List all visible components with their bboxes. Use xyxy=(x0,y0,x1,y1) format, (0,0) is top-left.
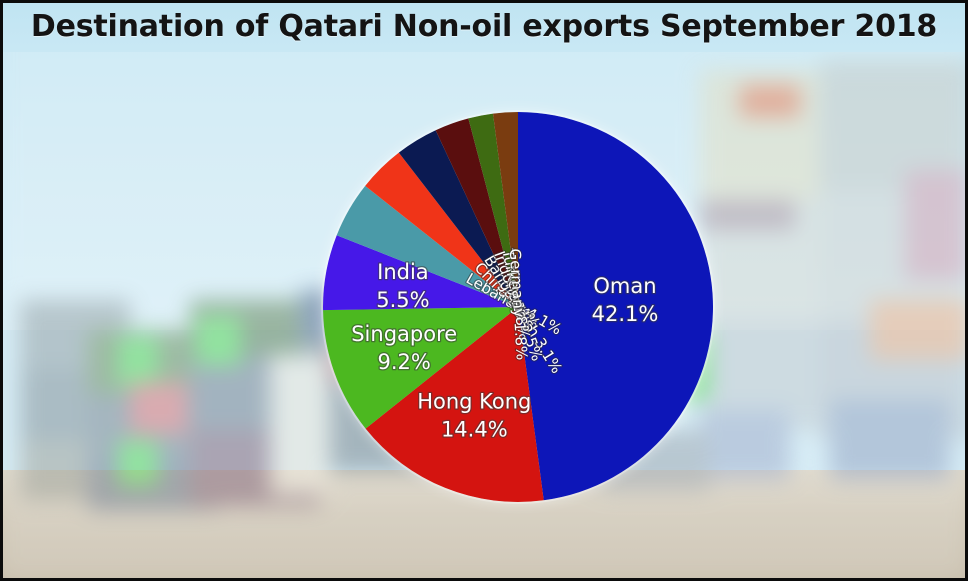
slice-label-name: Singapore xyxy=(351,322,457,346)
slice-label-value: 9.2% xyxy=(378,350,431,374)
slice-label-value: 14.4% xyxy=(441,418,508,442)
pie-chart: Oman42.1%Hong Kong14.4%Singapore9.2%Indi… xyxy=(0,0,968,581)
slice-label-name: Hong Kong xyxy=(417,390,531,414)
slice-label-value: 42.1% xyxy=(592,302,659,326)
pie-svg: Oman42.1%Hong Kong14.4%Singapore9.2%Indi… xyxy=(0,0,968,581)
slice-label-name: India xyxy=(377,260,429,284)
slice-label-name: Oman xyxy=(593,274,656,298)
chart-canvas: Destination of Qatari Non-oil exports Se… xyxy=(0,0,968,581)
slice-label-value: 5.5% xyxy=(376,288,429,312)
